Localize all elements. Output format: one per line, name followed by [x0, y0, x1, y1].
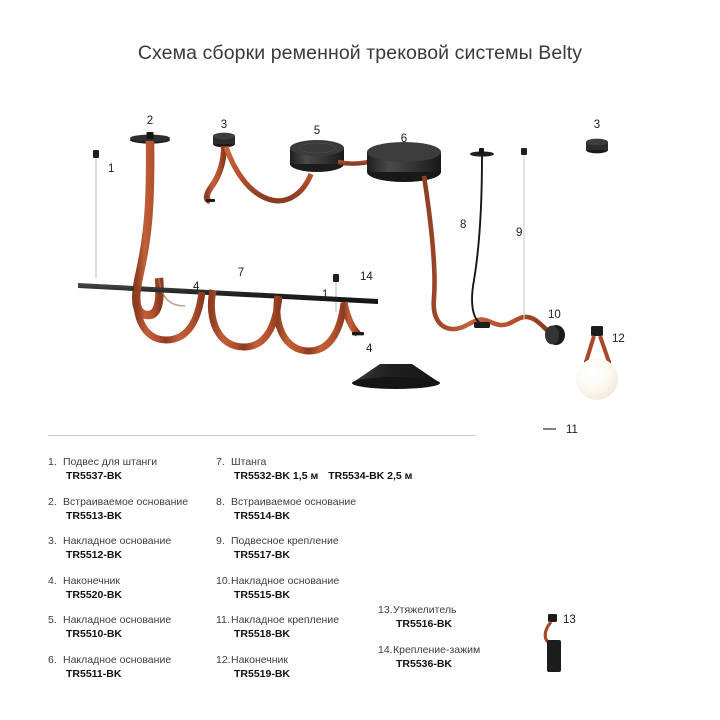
- legend-item-title: 3.Накладное основание: [48, 534, 233, 548]
- legend-item-title: 5.Накладное основание: [48, 613, 233, 627]
- legend-item: 5.Накладное основание TR5510-BK: [48, 613, 233, 642]
- legend-item-number: 9.: [216, 534, 231, 548]
- legend-item-sku: TR5516-BK: [378, 617, 598, 632]
- legend-item-name: Накладное основание: [63, 654, 171, 666]
- part-7-track-rod: [78, 283, 378, 304]
- legend-item-sku: TR5520-BK: [48, 588, 233, 603]
- legend-item-sku: TR5515-BK: [216, 588, 431, 603]
- legend-item-sku-a: TR5532-BK 1,5 м: [234, 470, 318, 482]
- legend-item-sku: TR5514-BK: [216, 509, 431, 524]
- part-4-tip-left: [206, 199, 215, 202]
- legend-item-name: Утяжелитель: [393, 604, 456, 616]
- legend-item: 2.Встраиваемое основание TR5513-BK: [48, 495, 233, 524]
- legend-item-title: 9.Подвесное крепление: [216, 534, 431, 548]
- callout-4b: 4: [366, 343, 373, 355]
- callout-11: 11: [566, 424, 578, 436]
- part-3-surface-base-right: [586, 139, 608, 154]
- page-root: Схема сборки ременной трековой системы B…: [0, 0, 720, 720]
- legend-item: 1.Подвес для штанги TR5537-BK: [48, 455, 233, 484]
- legend-item-name: Крепление-зажим: [393, 644, 480, 656]
- legend-item-name: Наконечник: [231, 654, 288, 666]
- part-5-surface-base: [290, 140, 344, 172]
- legend-item-name: Накладное основание: [63, 614, 171, 626]
- legend-item-title: 6.Накладное основание: [48, 653, 233, 667]
- legend-item-title: 14.Крепление-зажим: [378, 643, 598, 657]
- part-10-surface-base-connector: [545, 325, 565, 345]
- part-6-strap-to-connector: [424, 176, 548, 331]
- legend-item-number: 1.: [48, 455, 63, 469]
- legend-item-sku: TR5512-BK: [48, 548, 233, 563]
- callout-1a: 1: [108, 163, 114, 175]
- legend-item-title: 2.Встраиваемое основание: [48, 495, 233, 509]
- part-1-rod-suspension-left: [93, 150, 99, 278]
- part-4-tip-center: [352, 332, 364, 335]
- legend-item-number: 10.: [216, 574, 231, 588]
- legend-item-name: Накладное крепление: [231, 614, 339, 626]
- callout-3b: 3: [594, 119, 600, 131]
- legend-item-number: 5.: [48, 613, 63, 627]
- legend-item: 10.Накладное основание TR5515-BK: [216, 574, 431, 603]
- callout-14: 14: [360, 271, 373, 283]
- legend-column-1: 1.Подвес для штанги TR5537-BK 2.Встраива…: [48, 455, 233, 692]
- legend-item: 14.Крепление-зажим TR5536-BK: [378, 643, 598, 672]
- part-3-strap-left-short: [207, 146, 224, 201]
- page-title: Схема сборки ременной трековой системы B…: [0, 42, 720, 65]
- legend-item-number: 6.: [48, 653, 63, 667]
- floor-cone-base: [352, 364, 440, 389]
- legend-item-number: 12.: [216, 653, 231, 667]
- legend-divider: [48, 435, 476, 436]
- legend-item-sku: TR5513-BK: [48, 509, 233, 524]
- legend-item-title: 1.Подвес для штанги: [48, 455, 233, 469]
- strap-drape-2-left: [211, 290, 244, 347]
- legend-item-name: Подвесное крепление: [231, 535, 339, 547]
- legend-item: 4.Наконечник TR5520-BK: [48, 574, 233, 603]
- callout-9: 9: [516, 227, 522, 239]
- legend-item-name: Встраиваемое основание: [63, 496, 188, 508]
- legend-item-name: Наконечник: [63, 575, 120, 587]
- part-12-harness-left: [586, 336, 594, 362]
- legend-item-title: 7.Штанга: [216, 455, 431, 469]
- legend-item-sku: TR5517-BK: [216, 548, 431, 563]
- legend-item-number: 13.: [378, 603, 393, 617]
- globe-shade: [576, 358, 618, 400]
- legend-column-3: 13.Утяжелитель TR5516-BK 14.Крепление-за…: [378, 603, 598, 682]
- legend-item-number: 4.: [48, 574, 63, 588]
- callout-7: 7: [238, 267, 244, 279]
- part-8-cable-connector: [474, 322, 490, 328]
- legend-item-title: 10.Накладное основание: [216, 574, 431, 588]
- legend-item-number: 14.: [378, 643, 393, 657]
- legend-item-title: 4.Наконечник: [48, 574, 233, 588]
- legend-item-name: Встраиваемое основание: [231, 496, 356, 508]
- part-12-harness-right: [600, 336, 609, 362]
- callout-10: 10: [548, 309, 561, 321]
- assembly-diagram: 1 2 3 4 5 6 1 7 14 4 8 9 10 3 12: [0, 100, 720, 420]
- callout-6: 6: [401, 133, 407, 145]
- legend-item: 6.Накладное основание TR5511-BK: [48, 653, 233, 682]
- legend-item: 7.Штанга TR5532-BK 1,5 мTR5534-BK 2,5 м: [216, 455, 431, 484]
- strap-drape-3-left: [277, 296, 309, 351]
- legend-item-sku-b: TR5534-BK 2,5 м: [318, 470, 412, 482]
- legend-item-number: 8.: [216, 495, 231, 509]
- legend-item-sku: TR5532-BK 1,5 мTR5534-BK 2,5 м: [216, 469, 431, 484]
- diagram-svg: 1 2 3 4 5 6 1 7 14 4 8 9 10 3 12: [0, 100, 720, 420]
- legend-item: 8.Встраиваемое основание TR5514-BK: [216, 495, 431, 524]
- legend-item-title: 13.Утяжелитель: [378, 603, 598, 617]
- part-1-rod-suspension-center: [333, 274, 339, 312]
- legend-item-sku: TR5510-BK: [48, 627, 233, 642]
- legend-item: 13.Утяжелитель TR5516-BK: [378, 603, 598, 632]
- part-8-recessed-base: [470, 148, 494, 157]
- legend-item-number: 11.: [216, 613, 231, 627]
- callout-3a: 3: [221, 119, 227, 131]
- legend-item: 3.Накладное основание TR5512-BK: [48, 534, 233, 563]
- callout-12: 12: [612, 333, 625, 345]
- legend-item-sku: TR5536-BK: [378, 657, 598, 672]
- part-12-clamp: [591, 326, 603, 336]
- legend-item: 9.Подвесное крепление TR5517-BK: [216, 534, 431, 563]
- part-8-cable: [472, 156, 482, 324]
- callout-5: 5: [314, 125, 320, 137]
- legend-item-number: 3.: [48, 534, 63, 548]
- legend-item-sku: TR5537-BK: [48, 469, 233, 484]
- legend-item-name: Штанга: [231, 456, 266, 468]
- callout-1b: 1: [322, 289, 328, 301]
- callout-2: 2: [147, 115, 153, 127]
- legend-item-name: Накладное основание: [231, 575, 339, 587]
- part-3-surface-base-left: [213, 133, 235, 148]
- callout-8: 8: [460, 219, 466, 231]
- strap-drape-3-right: [309, 303, 344, 351]
- legend-item-number: 7.: [216, 455, 231, 469]
- callout-numbers: 1 2 3 4 5 6 1 7 14 4 8 9 10 3 12: [108, 115, 625, 355]
- callout-4a: 4: [193, 281, 200, 293]
- legend-item-sku: TR5511-BK: [48, 667, 233, 682]
- part-14-clamp-strap-end: [344, 302, 358, 334]
- legend-item-name: Накладное основание: [63, 535, 171, 547]
- legend-item-title: 8.Встраиваемое основание: [216, 495, 431, 509]
- legend-item-number: 2.: [48, 495, 63, 509]
- legend-item-name: Подвес для штанги: [63, 456, 157, 468]
- strap-drape-1-right: [166, 292, 202, 340]
